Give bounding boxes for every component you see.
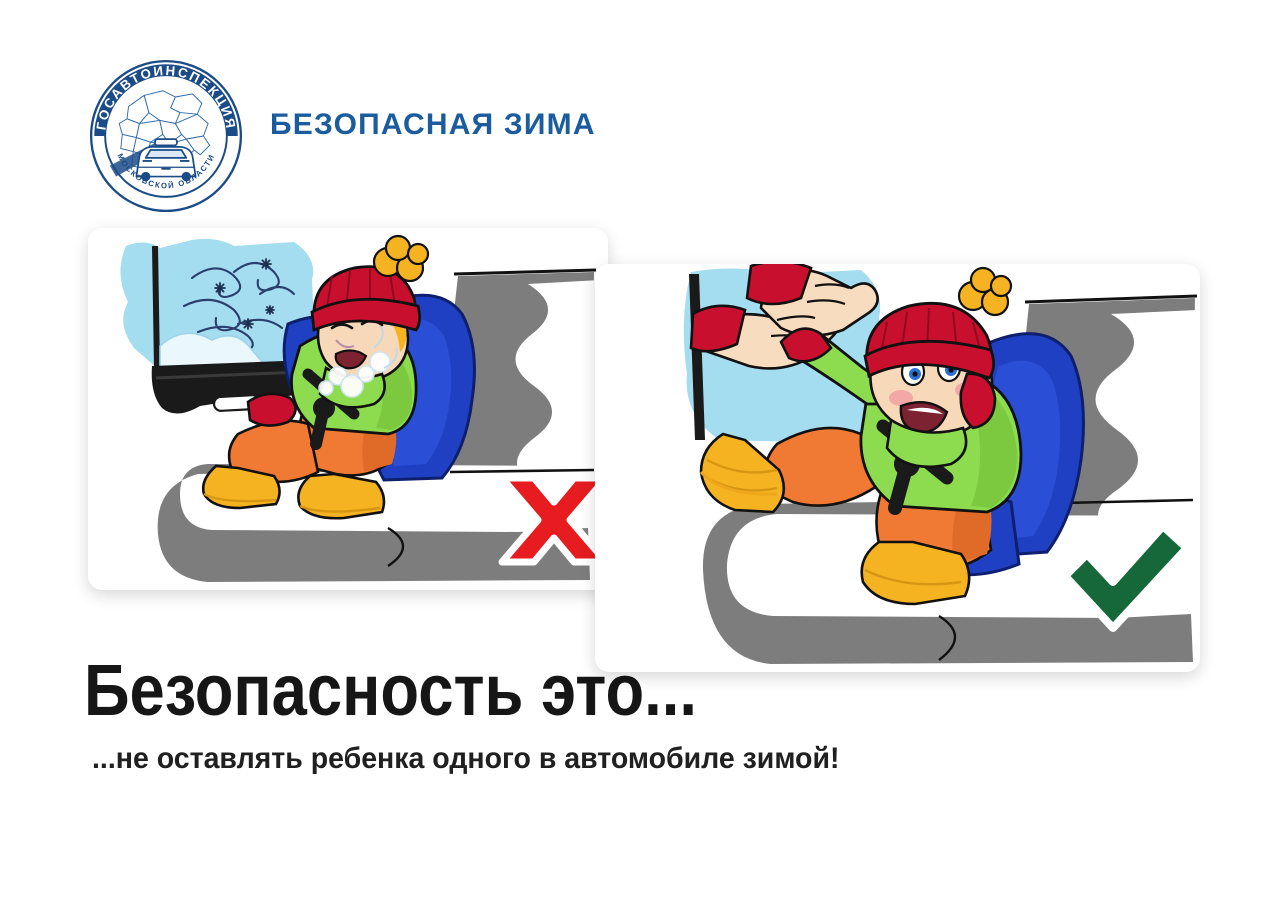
- good-example-card: [595, 264, 1200, 672]
- bad-example-card: [88, 228, 608, 590]
- bad-example-illustration: [88, 228, 608, 590]
- gosavtoinspekciya-logo: ГОСАВТОИНСПЕКЦИЯ МОСКОВСКОЙ ОБЛАСТИ: [88, 58, 244, 214]
- header: ГОСАВТОИНСПЕКЦИЯ МОСКОВСКОЙ ОБЛАСТИ БЕЗО…: [80, 50, 780, 220]
- footer-subline: ...не оставлять ребенка одного в автомоб…: [92, 742, 839, 775]
- good-example-illustration: [595, 264, 1200, 672]
- poster-root: ГОСАВТОИНСПЕКЦИЯ МОСКОВСКОЙ ОБЛАСТИ БЕЗО…: [0, 0, 1280, 904]
- page-title: БЕЗОПАСНАЯ ЗИМА: [270, 108, 596, 142]
